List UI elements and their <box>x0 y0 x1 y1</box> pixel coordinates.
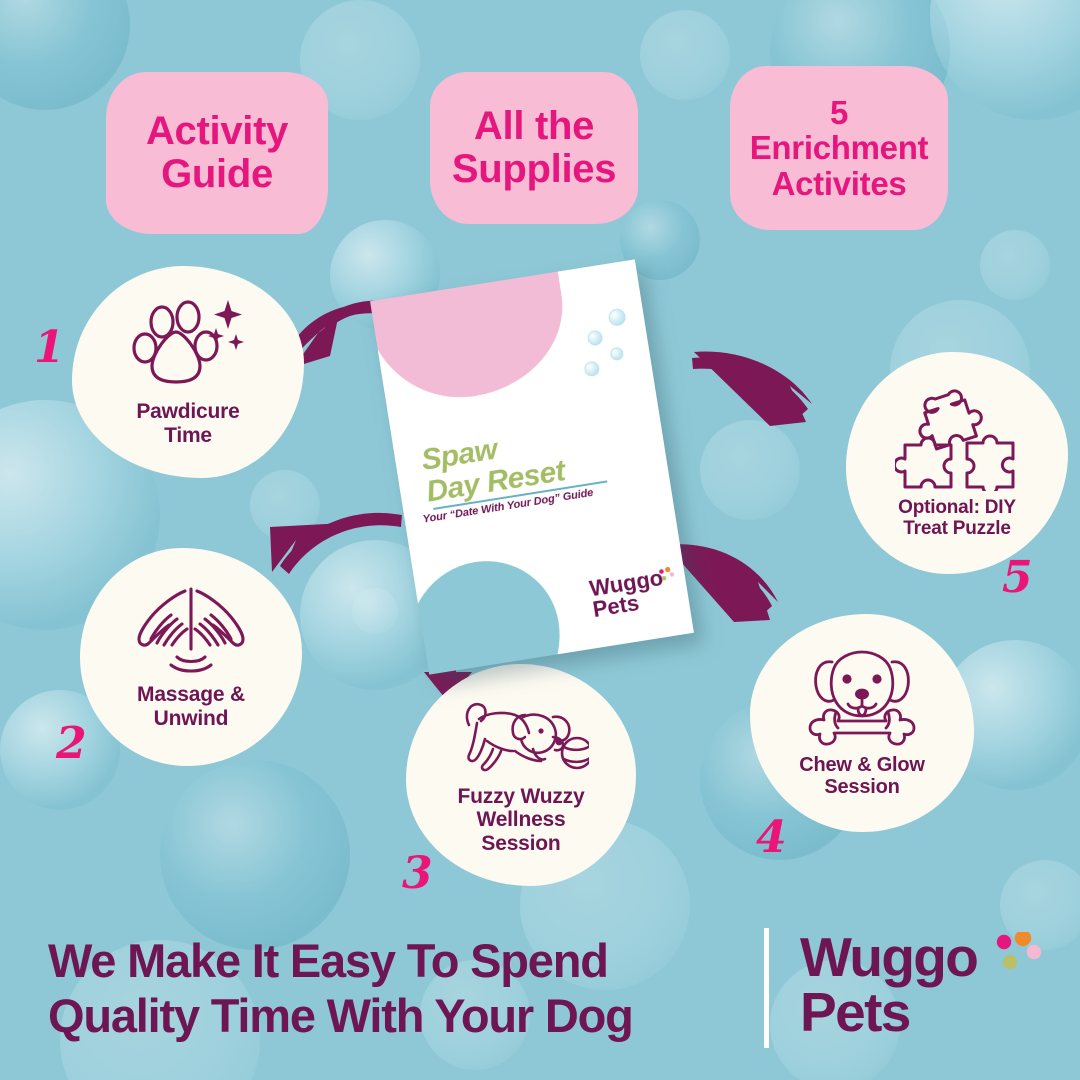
step-number-1: 1 <box>34 322 65 373</box>
playing-dog-ball-icon <box>453 695 589 779</box>
step-number-2: 2 <box>56 718 87 769</box>
brand-logo[interactable]: Wuggo Pets <box>800 930 977 1040</box>
activity-label-line: Pawdicure <box>136 400 239 424</box>
guide-logo: Wuggo Pets <box>588 567 668 620</box>
badge-row: Activity Guide All the Supplies 5 Enrich… <box>0 64 1080 224</box>
dog-with-bone-icon <box>802 648 922 748</box>
bubble <box>352 588 398 634</box>
badge-line: Guide <box>146 153 288 196</box>
step-number-4: 4 <box>756 812 787 863</box>
activity-label-line: Unwind <box>137 707 245 731</box>
tagline-line: Quality Time With Your Dog <box>48 989 738 1044</box>
guide-bubble <box>607 308 626 327</box>
bubble <box>250 470 320 540</box>
activity-label-line: Session <box>799 776 925 798</box>
activity-card-fuzzy-wuzzy[interactable]: Fuzzy Wuzzy Wellness Session <box>406 664 636 886</box>
massage-hands-icon <box>131 583 251 675</box>
paw-sparkle-icon <box>130 296 246 392</box>
brand-line: Wuggo <box>800 930 977 985</box>
brand-dots-icon <box>996 932 1042 978</box>
guide-bubble <box>583 360 600 377</box>
activity-card-chew-glow[interactable]: Chew & Glow Session <box>750 614 974 832</box>
step-number-5: 5 <box>1002 552 1033 603</box>
activity-label-line: Wellness <box>458 808 585 832</box>
activity-label-line: Fuzzy Wuzzy <box>458 785 585 809</box>
badge-all-the-supplies[interactable]: All the Supplies <box>430 72 638 224</box>
badge-line: 5 <box>750 95 929 131</box>
activity-card-pawdicure[interactable]: Pawdicure Time <box>72 266 304 478</box>
badge-line: All the <box>452 105 616 148</box>
tagline-line: We Make It Easy To Spend <box>48 934 738 989</box>
activity-label-line: Optional: DIY <box>898 497 1016 518</box>
guide-bubble <box>587 329 604 346</box>
step-number-3: 3 <box>402 848 433 899</box>
footer-divider <box>764 928 769 1048</box>
activity-label-line: Treat Puzzle <box>898 518 1016 539</box>
activity-label-line: Time <box>136 424 239 448</box>
badge-line: Enrichment <box>750 130 929 166</box>
bubble <box>980 230 1050 300</box>
activity-label-line: Massage & <box>137 683 245 707</box>
badge-activity-guide[interactable]: Activity Guide <box>106 72 328 234</box>
badge-enrichment-activites[interactable]: 5 Enrichment Activites <box>730 66 948 230</box>
brand-line: Pets <box>800 985 977 1040</box>
badge-line: Activity <box>146 110 288 153</box>
footer: We Make It Easy To Spend Quality Time Wi… <box>0 920 1080 1080</box>
tagline: We Make It Easy To Spend Quality Time Wi… <box>48 934 738 1043</box>
puzzle-pieces-icon <box>895 387 1019 491</box>
bubble <box>700 420 800 520</box>
activity-label-line: Session <box>458 832 585 856</box>
activity-label-line: Chew & Glow <box>799 754 925 776</box>
logo-dots-icon <box>657 566 675 584</box>
guide-bubble <box>609 346 624 361</box>
badge-line: Activites <box>750 166 929 202</box>
badge-line: Supplies <box>452 148 616 191</box>
